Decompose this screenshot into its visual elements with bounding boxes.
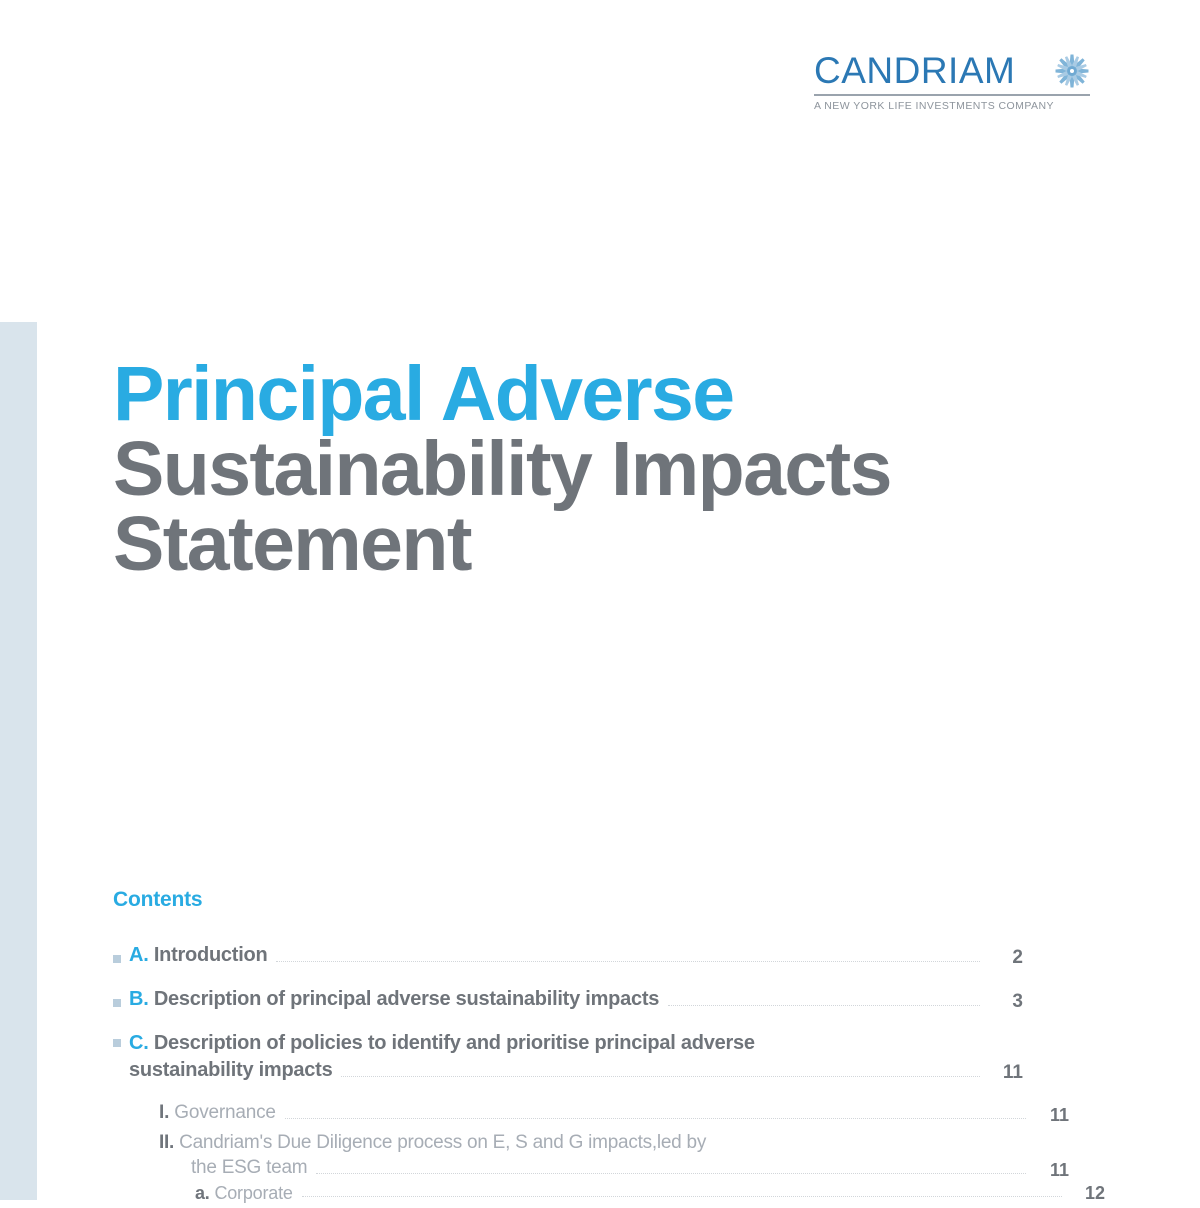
toc-entry-ii-line2: the ESG team 11	[159, 1155, 1069, 1181]
toc-entry-a[interactable]: A. Introduction 2	[113, 942, 1023, 969]
toc-entry-i[interactable]: I. Governance 11	[113, 1101, 1069, 1126]
contents-heading: Contents	[113, 888, 1023, 912]
toc-entry-b-label: Description of principal adverse sustain…	[154, 988, 659, 1010]
square-bullet-icon	[113, 1039, 121, 1047]
leader-dots	[316, 1172, 1026, 1174]
toc-entry-i-page: 11	[1035, 1105, 1069, 1126]
toc-entry-c-line2: sustainability impacts 11	[129, 1057, 1023, 1084]
logo-tagline: A NEW YORK LIFE INVESTMENTS COMPANY	[814, 100, 1090, 112]
toc-entry-ii[interactable]: II. Candriam's Due Diligence process on …	[113, 1130, 1069, 1181]
toc-entry-a-label: Introduction	[154, 944, 268, 966]
leader-dots	[302, 1195, 1062, 1197]
toc-entry-b-page: 3	[989, 991, 1023, 1013]
candriam-logo: CANDRIAM	[814, 52, 1090, 112]
toc-entry-c-page: 11	[989, 1062, 1023, 1084]
candriam-starburst-icon	[1054, 53, 1090, 89]
logo-divider	[814, 94, 1090, 96]
leader-dots	[285, 1117, 1026, 1119]
title-line-2: Sustainability Impacts	[113, 432, 1053, 507]
toc-entry-c-index: C.	[129, 1032, 149, 1054]
toc-entry-i-label: Governance	[174, 1102, 276, 1123]
leader-dots	[668, 1004, 980, 1006]
toc-entry-ii-line1: II. Candriam's Due Diligence process on …	[159, 1130, 1069, 1156]
toc-entry-b[interactable]: B. Description of principal adverse sust…	[113, 986, 1023, 1013]
toc-entry-c-label-line2: sustainability impacts	[129, 1057, 332, 1084]
title-line-1: Principal Adverse	[113, 357, 1053, 432]
toc-entry-a-corporate-text: a. Corporate	[195, 1183, 293, 1204]
toc-entry-a-text: A. Introduction	[129, 942, 267, 969]
toc-entry-a-page: 2	[989, 947, 1023, 969]
document-title: Principal Adverse Sustainability Impacts…	[113, 357, 1053, 583]
left-accent-bar	[0, 322, 37, 1200]
toc-entry-ii-label-line2: the ESG team	[191, 1155, 307, 1181]
toc-entry-ii-body: II. Candriam's Due Diligence process on …	[159, 1130, 1069, 1181]
toc-entry-c[interactable]: C. Description of policies to identify a…	[113, 1030, 1023, 1084]
leader-dots	[276, 960, 980, 962]
toc-entry-ii-label-line1: Candriam's Due Diligence process on E, S…	[179, 1132, 706, 1153]
toc-entry-i-index: I.	[159, 1102, 169, 1123]
table-of-contents: Contents A. Introduction 2 B. Descriptio…	[113, 888, 1023, 1208]
square-bullet-icon	[113, 999, 121, 1007]
toc-entry-a-corporate[interactable]: a. Corporate 12	[113, 1183, 1105, 1204]
toc-entry-i-text: I. Governance	[159, 1101, 276, 1126]
toc-entry-b-text: B. Description of principal adverse sust…	[129, 986, 659, 1013]
logo-row: CANDRIAM	[814, 52, 1090, 89]
toc-entry-c-line1: C. Description of policies to identify a…	[129, 1030, 1023, 1057]
leader-dots	[341, 1075, 980, 1077]
square-bullet-icon	[113, 955, 121, 963]
toc-entry-a-index: A.	[129, 944, 149, 966]
toc-entry-a-corporate-page: 12	[1071, 1183, 1105, 1204]
toc-entry-b-index: B.	[129, 988, 149, 1010]
title-line-3: Statement	[113, 507, 1053, 582]
toc-entry-c-body: C. Description of policies to identify a…	[129, 1030, 1023, 1084]
toc-entry-ii-page: 11	[1035, 1160, 1069, 1181]
toc-entry-ii-index: II.	[159, 1132, 174, 1153]
toc-entry-c-label-line1: Description of policies to identify and …	[154, 1032, 755, 1054]
logo-wordmark: CANDRIAM	[814, 52, 1015, 89]
